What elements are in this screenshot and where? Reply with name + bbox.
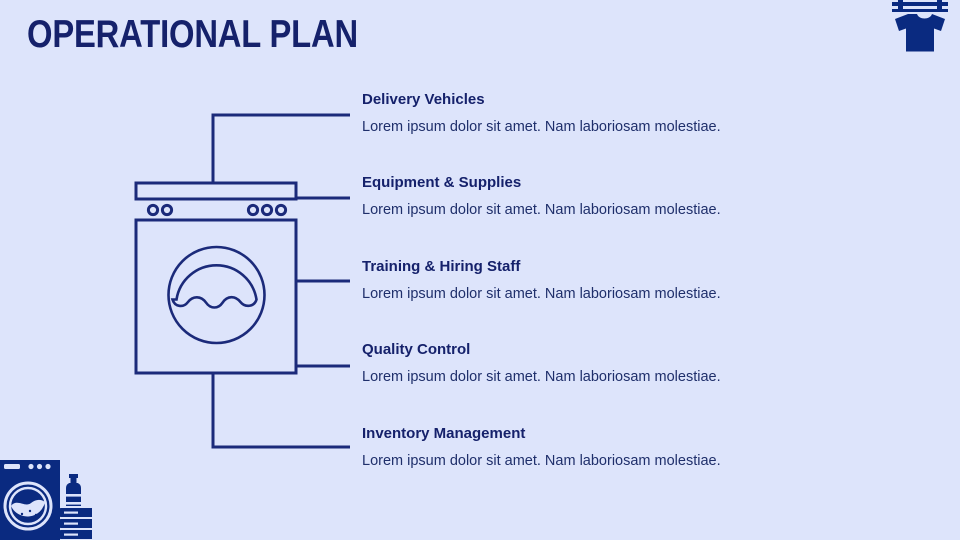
machine-knob-4 — [262, 205, 271, 214]
item-description: Lorem ipsum dolor sit amet. Nam laborios… — [362, 276, 792, 303]
machine-knob-1 — [148, 205, 157, 214]
washing-machine-detergent-towels-icon — [0, 454, 92, 540]
list-item[interactable]: Inventory Management Lorem ipsum dolor s… — [362, 425, 792, 470]
machine-control-panel — [136, 183, 296, 199]
machine-knob-5 — [276, 205, 285, 214]
item-description: Lorem ipsum dolor sit amet. Nam laborios… — [362, 443, 792, 470]
item-title: Training & Hiring Staff — [362, 258, 792, 276]
connector-line-1 — [213, 115, 350, 183]
list-item[interactable]: Training & Hiring Staff Lorem ipsum dolo… — [362, 258, 792, 303]
slide-operational-plan: OPERATIONAL PLAN — [0, 0, 960, 540]
machine-knob-2 — [162, 205, 171, 214]
machine-door-outer — [169, 247, 265, 343]
item-title: Quality Control — [362, 341, 792, 359]
item-title: Equipment & Supplies — [362, 174, 792, 192]
item-title: Delivery Vehicles — [362, 91, 792, 109]
item-description: Lorem ipsum dolor sit amet. Nam laborios… — [362, 109, 792, 136]
tshirt-on-clothesline-icon — [892, 0, 948, 52]
item-description: Lorem ipsum dolor sit amet. Nam laborios… — [362, 359, 792, 386]
machine-knob-3 — [248, 205, 257, 214]
machine-body — [136, 220, 296, 373]
item-description: Lorem ipsum dolor sit amet. Nam laborios… — [362, 192, 792, 219]
list-item[interactable]: Delivery Vehicles Lorem ipsum dolor sit … — [362, 91, 792, 136]
machine-door-wave — [173, 265, 257, 307]
connector-line-5 — [213, 373, 350, 447]
item-title: Inventory Management — [362, 425, 792, 443]
list-item[interactable]: Quality Control Lorem ipsum dolor sit am… — [362, 341, 792, 386]
page-title: OPERATIONAL PLAN — [27, 13, 358, 57]
list-item[interactable]: Equipment & Supplies Lorem ipsum dolor s… — [362, 174, 792, 219]
